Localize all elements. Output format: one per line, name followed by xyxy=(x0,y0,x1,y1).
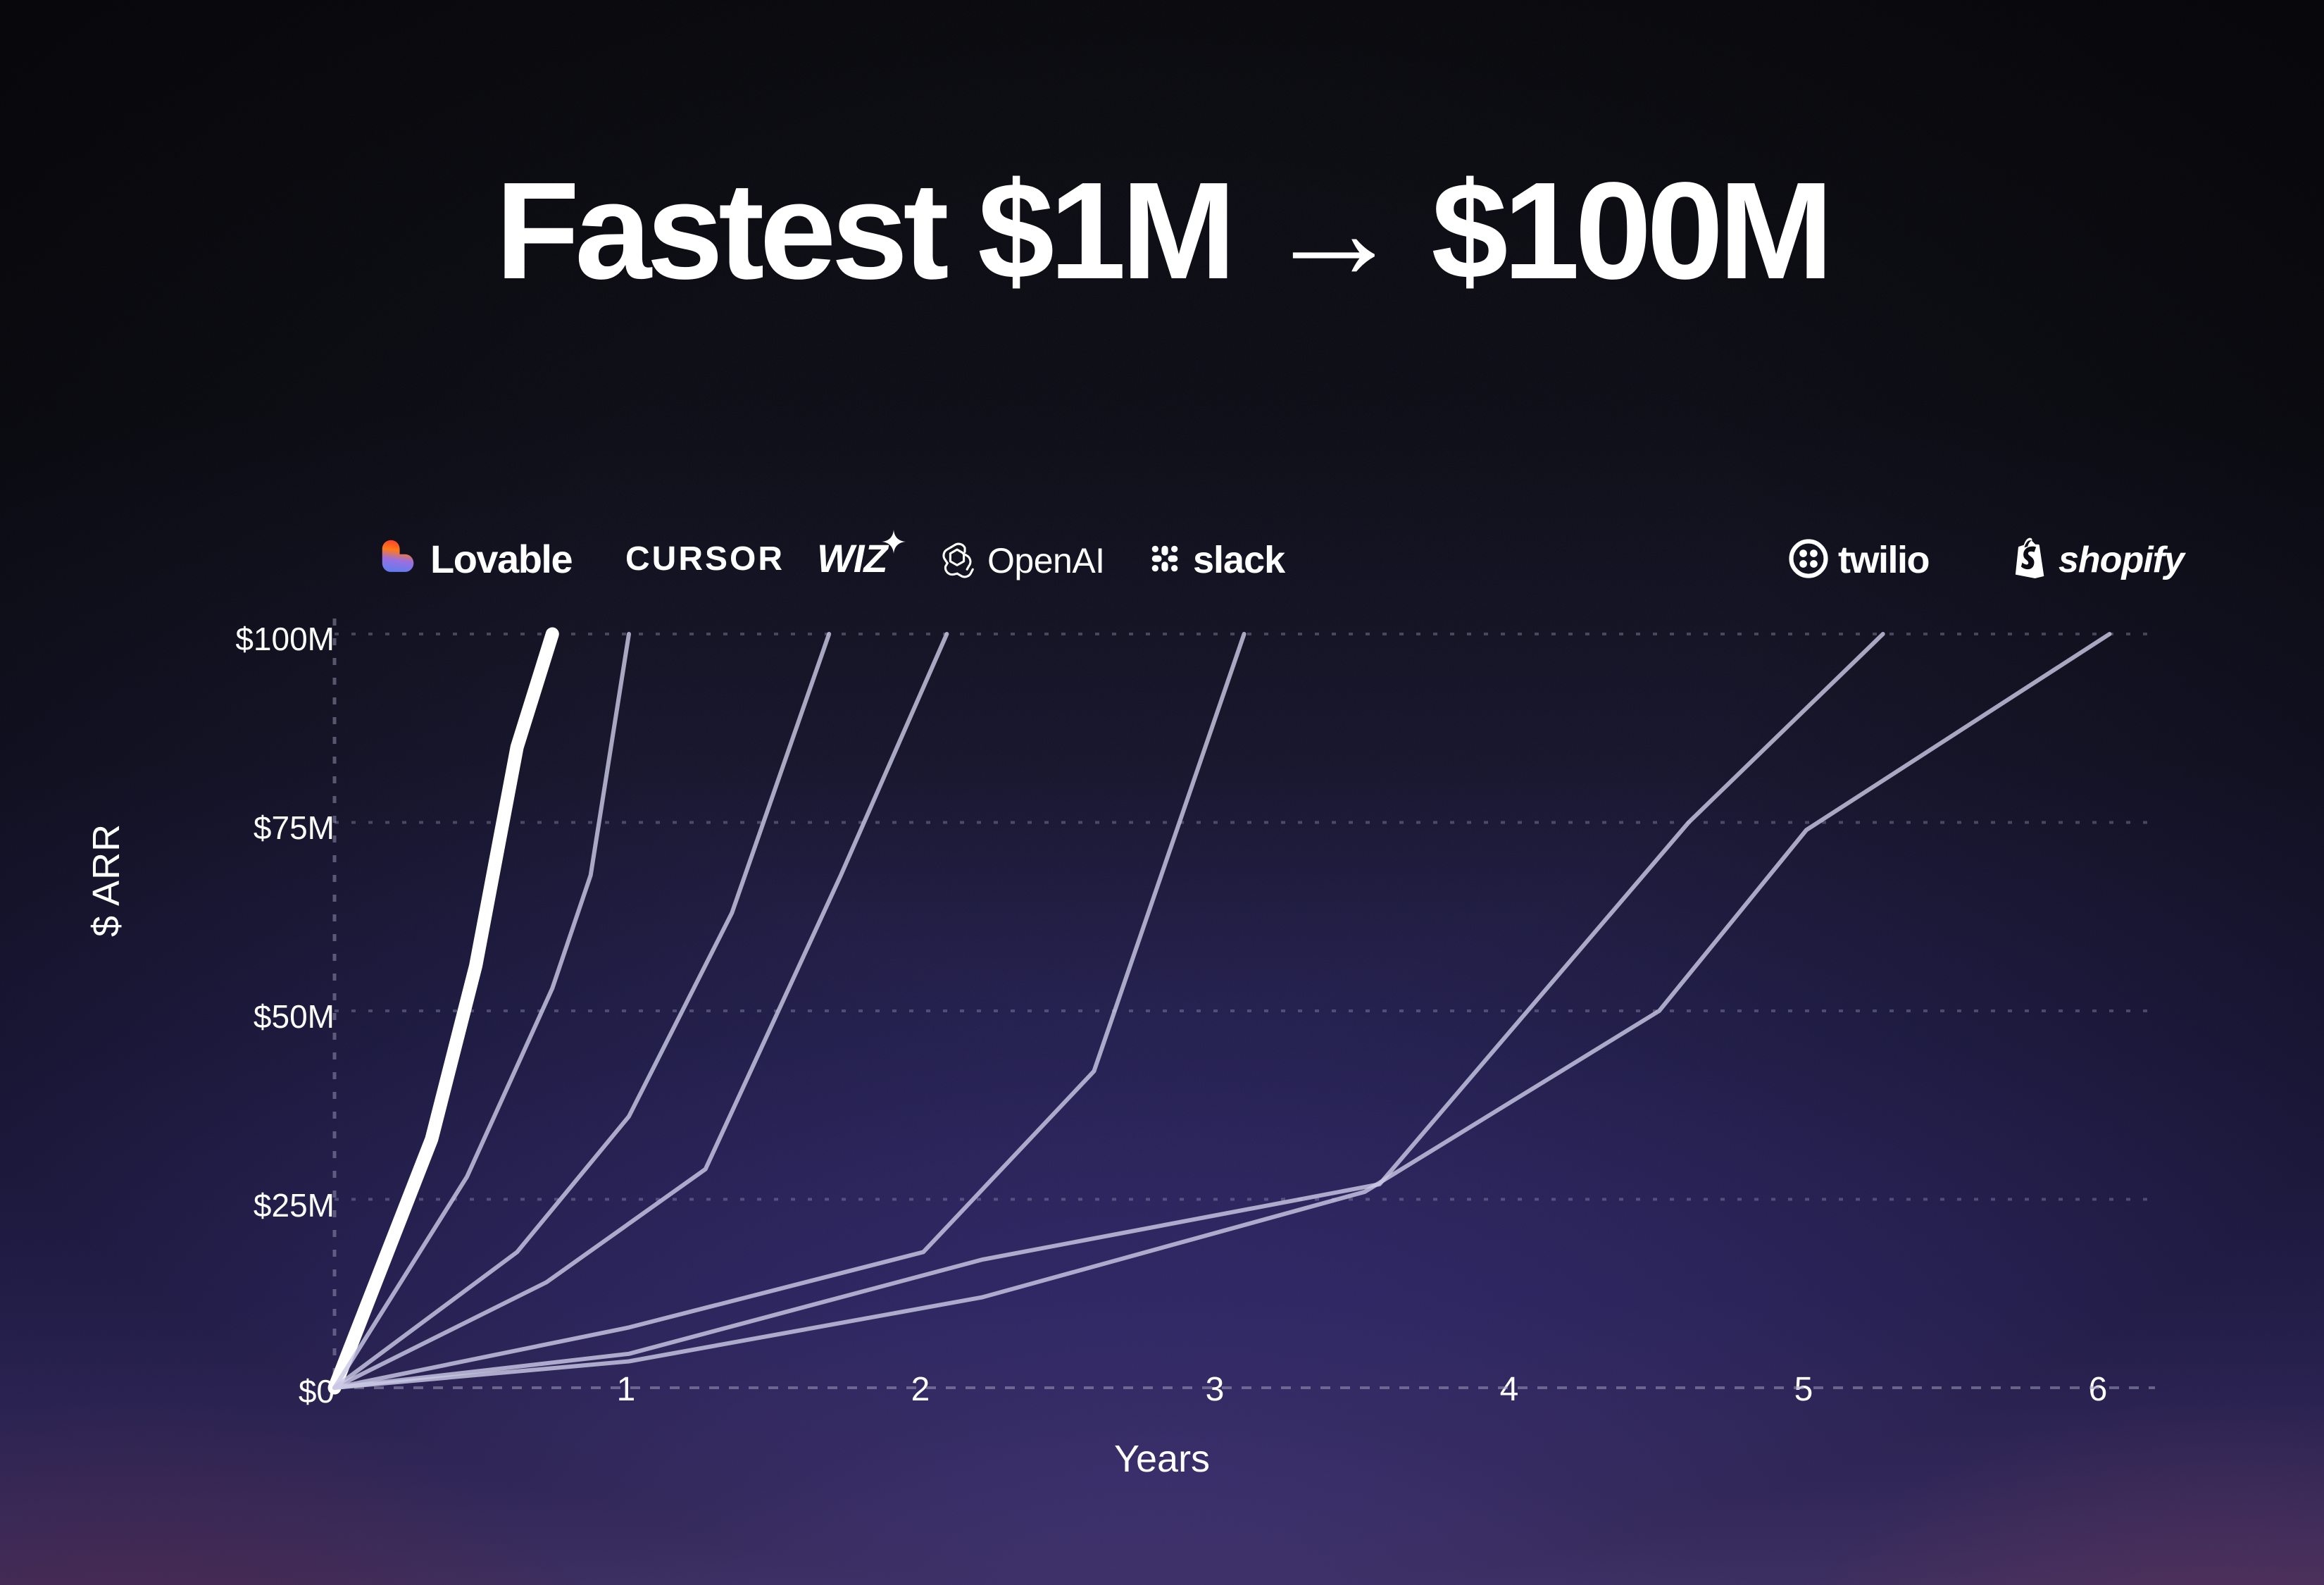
series-line-shopify[interactable] xyxy=(335,634,2110,1388)
plot-area xyxy=(0,0,2324,1585)
series-line-twilio[interactable] xyxy=(335,634,1883,1388)
series-line-lovable[interactable] xyxy=(335,634,552,1388)
series-line-wiz[interactable] xyxy=(335,634,829,1388)
chart-canvas: Fastest $1M → $100M Lovable xyxy=(0,0,2324,1585)
